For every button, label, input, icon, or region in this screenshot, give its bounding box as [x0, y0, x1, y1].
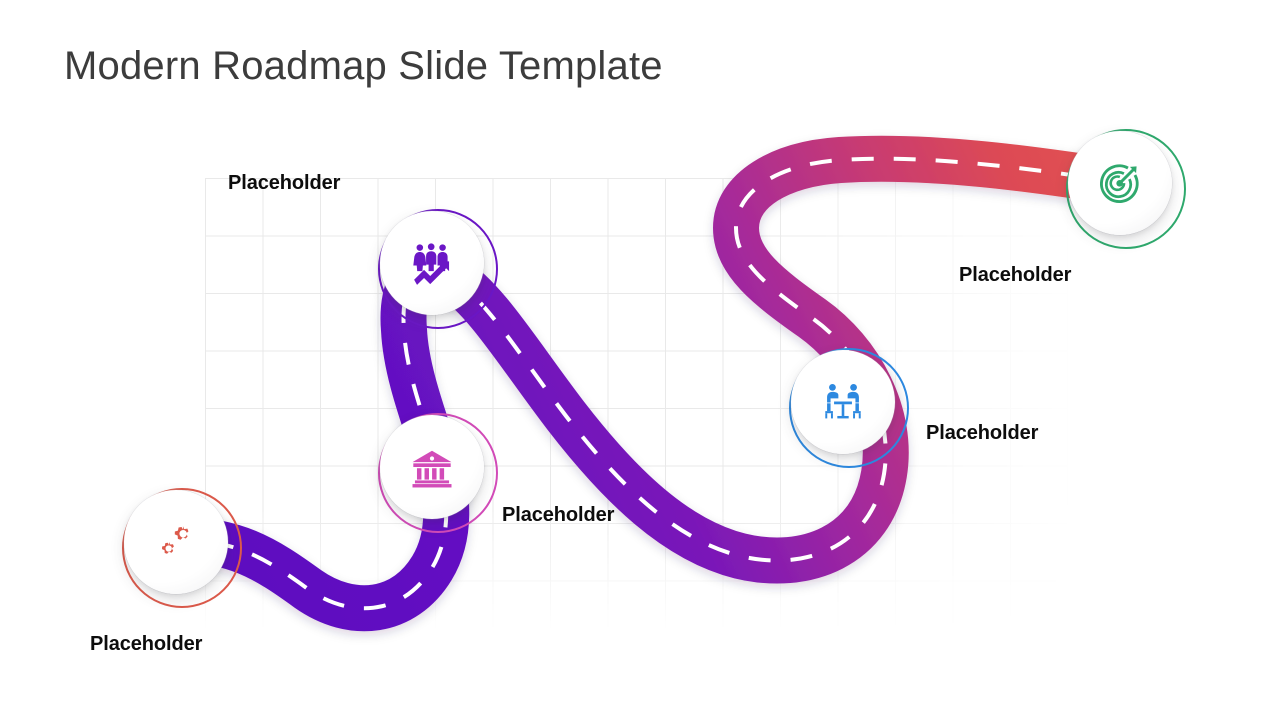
people-growth-icon — [406, 237, 458, 289]
road-band — [170, 159, 1118, 609]
milestone-disc-5 — [1068, 131, 1172, 235]
background-grid — [205, 178, 1075, 630]
milestone-label-1: Placeholder — [90, 633, 202, 656]
milestone-node-5[interactable] — [1066, 129, 1186, 249]
road-centerline — [170, 159, 1118, 609]
bank-icon — [406, 441, 458, 493]
roadmap-path — [0, 0, 1280, 720]
milestone-disc-2 — [380, 415, 484, 519]
milestone-label-5: Placeholder — [959, 264, 1071, 287]
milestone-label-3: Placeholder — [228, 172, 340, 195]
meeting-table-icon — [817, 376, 869, 428]
milestone-node-3[interactable] — [378, 209, 498, 329]
milestone-node-4[interactable] — [789, 348, 909, 468]
milestone-label-4: Placeholder — [926, 422, 1038, 445]
milestone-node-1[interactable] — [122, 488, 242, 608]
milestone-label-2: Placeholder — [502, 504, 614, 527]
milestone-disc-3 — [380, 211, 484, 315]
page-title: Modern Roadmap Slide Template — [64, 44, 663, 89]
gears-icon — [150, 516, 202, 568]
target-arrow-icon — [1094, 157, 1146, 209]
roadmap-slide: Modern Roadmap Slide Template — [0, 0, 1280, 720]
milestone-node-2[interactable] — [378, 413, 498, 533]
milestone-disc-1 — [124, 490, 228, 594]
milestone-disc-4 — [791, 350, 895, 454]
